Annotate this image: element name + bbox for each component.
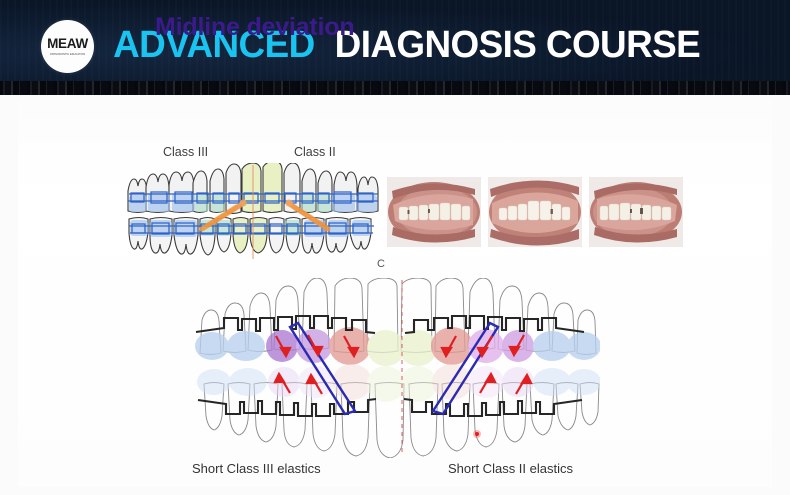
screenshot-root: MEAW ORTHODONTIC EDUCATION ADVANCED DIAG… — [0, 0, 790, 495]
label-class-ii: Class II — [294, 145, 336, 159]
intraoral-right-lateral — [387, 177, 481, 247]
banner-bottom-strip — [0, 81, 790, 95]
intraoral-left-lateral — [589, 177, 683, 247]
label-class-iii: Class III — [163, 145, 208, 159]
slide-title: Midline deviation — [155, 13, 354, 42]
logo-subtext: ORTHODONTIC EDUCATION — [50, 53, 85, 56]
meaw-wire-elastics-diagram — [180, 278, 600, 458]
upper-dental-arch-diagram — [122, 163, 384, 263]
course-banner: MEAW ORTHODONTIC EDUCATION ADVANCED DIAG… — [0, 0, 790, 95]
banner-title-rest: DIAGNOSIS COURSE — [334, 24, 699, 67]
intraoral-frontal — [488, 177, 582, 247]
label-short-class-iii-elastics: Short Class III elastics — [192, 461, 321, 476]
logo-text: MEAW — [47, 37, 88, 51]
label-short-class-ii-elastics: Short Class II elastics — [448, 461, 573, 476]
meaw-logo: MEAW ORTHODONTIC EDUCATION — [41, 20, 94, 73]
intraoral-photo-row — [387, 177, 684, 247]
